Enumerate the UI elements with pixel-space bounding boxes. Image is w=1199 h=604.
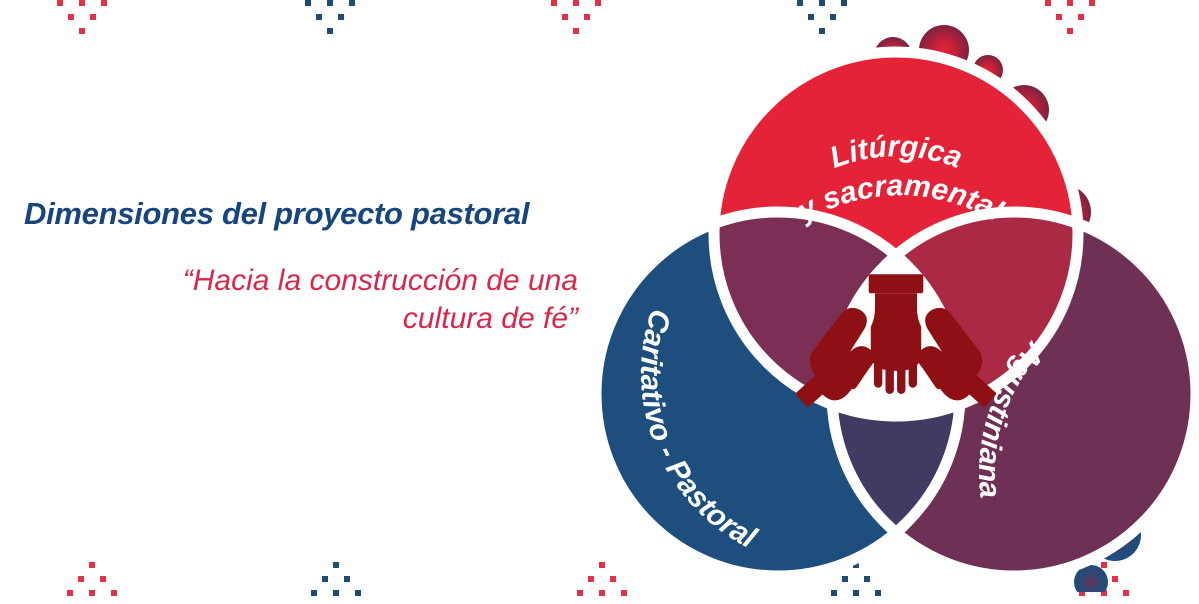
page-title: Dimensiones del proyecto pastoral [0, 196, 600, 232]
page-subtitle-line-2: cultura de fé” [403, 302, 578, 335]
page-subtitle-line-1: “Hacia la construcción de una [183, 264, 578, 297]
decor-dots-top-1 [46, 0, 166, 34]
decor-dots-top-2 [294, 0, 414, 34]
decor-dots-bottom-1 [56, 562, 176, 604]
decor-dots-bottom-2 [300, 562, 420, 604]
page-subtitle: “Hacia la construcción de una cultura de… [0, 262, 600, 339]
venn-diagram: Litúrgica y sacramental Caritativo - Pas… [596, 22, 1196, 592]
slide-canvas: Dimensiones del proyecto pastoral “Hacia… [0, 0, 1199, 604]
text-block: Dimensiones del proyecto pastoral “Hacia… [0, 196, 600, 338]
